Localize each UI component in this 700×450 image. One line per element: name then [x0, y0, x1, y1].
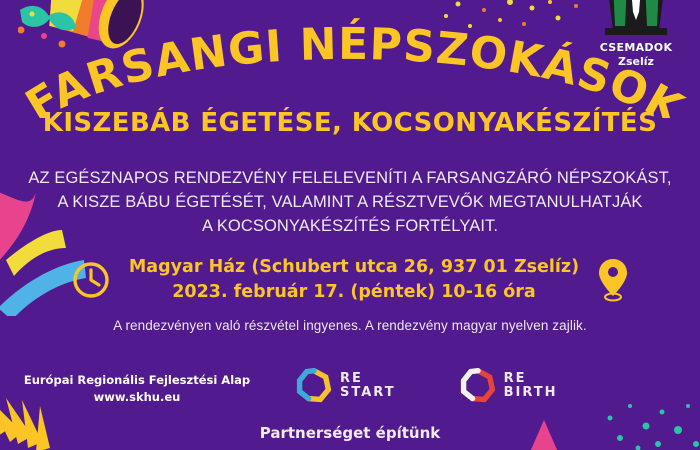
rebirth-wordmark: RE BIRTH: [504, 372, 558, 400]
description-line-1: AZ EGÉSZNAPOS RENDEZVÉNY FELELEVENÍTI A …: [0, 166, 700, 190]
restart-wordmark: RE START: [340, 372, 396, 400]
rebirth-line-1: RE: [504, 372, 558, 386]
page-title-text: FARSANGI NÉPSZOKÁSOK: [17, 17, 692, 118]
restart-line-2: START: [340, 386, 396, 400]
restart-line-1: RE: [340, 372, 396, 386]
clock-icon: [71, 260, 111, 300]
description-paragraph: AZ EGÉSZNAPOS RENDEZVÉNY FELELEVENÍTI A …: [0, 166, 700, 238]
poster-canvas: CSEMADOK Zselíz FARSANGI NÉPSZOKÁSOK KIS…: [0, 0, 700, 450]
restart-ring-icon: [296, 368, 332, 404]
partnership-tagline: Partnerséget építünk: [0, 424, 700, 442]
partner-logo-row: RE START RE BIRTH: [296, 368, 558, 404]
venue-text: Magyar Ház (Schubert utca 26, 937 01 Zse…: [129, 255, 579, 305]
description-line-2: A KISZE BÁBU ÉGETÉSÉT, VALAMINT A RÉSZTV…: [0, 190, 700, 214]
page-subtitle: KISZEBÁB ÉGETÉSE, KOCSONYAKÉSZÍTÉS: [0, 108, 700, 138]
rebirth-ring-icon: [460, 368, 496, 404]
map-pin-icon: [597, 258, 629, 302]
venue-datetime-block: Magyar Ház (Schubert utca 26, 937 01 Zse…: [0, 252, 700, 308]
rebirth-logo: RE BIRTH: [460, 368, 558, 404]
free-entry-note: A rendezvényen való részvétel ingyenes. …: [0, 318, 700, 333]
erdf-url[interactable]: www.skhu.eu: [12, 389, 262, 406]
venue-place: Magyar Ház (Schubert utca 26, 937 01 Zse…: [129, 255, 579, 280]
venue-datetime: 2023. február 17. (péntek) 10-16 óra: [129, 280, 579, 305]
description-line-3: A KOCSONYAKÉSZÍTÉS FORTÉLYAIT.: [0, 214, 700, 238]
restart-logo: RE START: [296, 368, 396, 404]
erdf-block: Európai Regionális Fejlesztési Alap www.…: [12, 372, 262, 406]
rebirth-line-2: BIRTH: [504, 386, 558, 400]
svg-text:FARSANGI NÉPSZOKÁSOK: FARSANGI NÉPSZOKÁSOK: [17, 17, 692, 118]
page-title: FARSANGI NÉPSZOKÁSOK: [0, 8, 700, 118]
erdf-fund-name: Európai Regionális Fejlesztési Alap: [12, 372, 262, 389]
